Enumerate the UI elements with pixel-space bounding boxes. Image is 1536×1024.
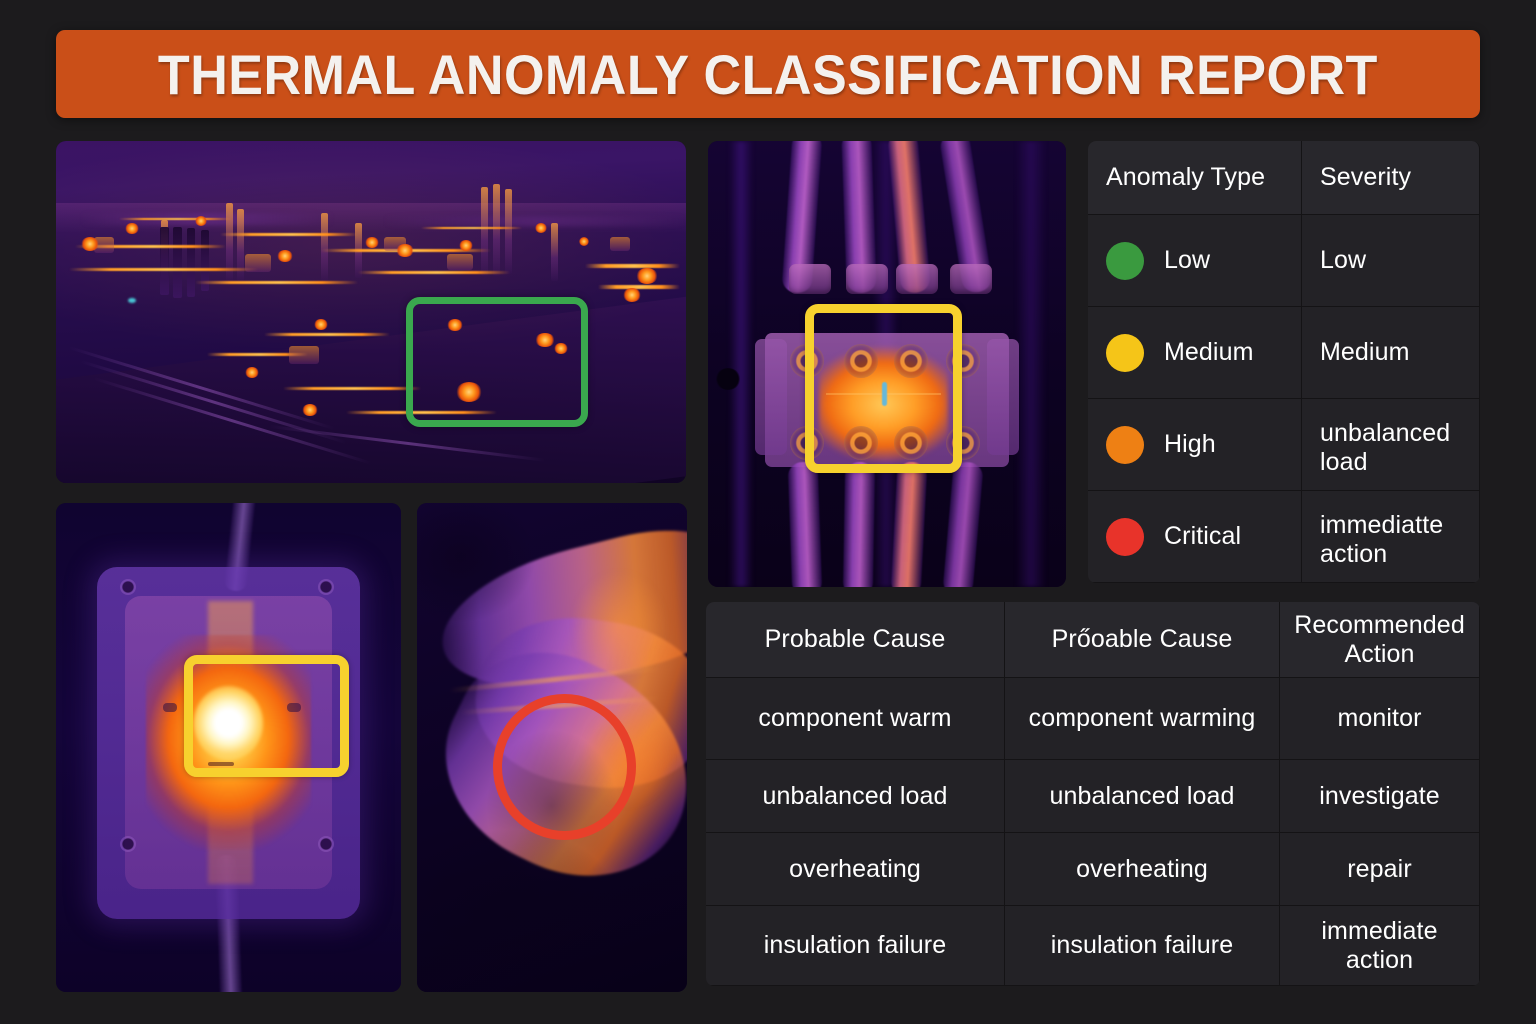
severity-table: Anomaly Type Severity Low Low Medium Med… <box>1088 141 1480 583</box>
thermal-image-terminal-block[interactable] <box>708 141 1066 587</box>
severity-value: immediatte action <box>1302 491 1480 583</box>
anomaly-type-value: Medium <box>1164 338 1254 367</box>
table-row[interactable]: Low <box>1088 215 1302 307</box>
table-row[interactable]: unbalanced load <box>1005 760 1280 833</box>
severity-header-anomaly-type: Anomaly Type <box>1088 141 1302 215</box>
page-title: THERMAL ANOMALY CLASSIFICATION REPORT <box>158 42 1378 107</box>
thermal-image-refinery-aerial[interactable] <box>56 141 686 483</box>
severity-value: Low <box>1302 215 1480 307</box>
table-row[interactable]: overheating <box>1005 833 1280 906</box>
annotation-circle-red[interactable] <box>493 694 636 841</box>
table-row[interactable]: High <box>1088 399 1302 491</box>
table-row[interactable]: monitor <box>1280 678 1480 760</box>
severity-value: Medium <box>1302 307 1480 399</box>
thermal-image-pipe-bend[interactable] <box>417 503 687 992</box>
anomaly-type-value: High <box>1164 430 1216 459</box>
table-row[interactable]: component warming <box>1005 678 1280 760</box>
table-row[interactable]: investigate <box>1280 760 1480 833</box>
annotation-box-green[interactable] <box>406 297 589 427</box>
table-row[interactable]: unbalanced load <box>706 760 1005 833</box>
table-row[interactable]: repair <box>1280 833 1480 906</box>
annotation-box-yellow-junction[interactable] <box>184 655 350 777</box>
status-dot-low <box>1106 242 1144 280</box>
anomaly-type-value: Critical <box>1164 522 1241 551</box>
status-dot-critical <box>1106 518 1144 556</box>
thermal-image-junction-box[interactable] <box>56 503 401 992</box>
status-dot-medium <box>1106 334 1144 372</box>
refinery-thermal-scene <box>56 141 686 483</box>
table-row[interactable]: insulation failure <box>706 906 1005 986</box>
table-row[interactable]: overheating <box>706 833 1005 906</box>
cause-action-table: Probable Cause Prőoable Cause Recommend… <box>706 602 1480 986</box>
cause-header-action: Recommended Action <box>1280 602 1480 678</box>
table-row[interactable]: component warm <box>706 678 1005 760</box>
status-dot-high <box>1106 426 1144 464</box>
severity-value: unbalanced load <box>1302 399 1480 491</box>
cause-header-a: Probable Cause <box>706 602 1005 678</box>
severity-header-severity: Severity <box>1302 141 1480 215</box>
cause-header-b: Prőoable Cause <box>1005 602 1280 678</box>
table-row[interactable]: Medium <box>1088 307 1302 399</box>
report-title-bar: THERMAL ANOMALY CLASSIFICATION REPORT <box>56 30 1480 118</box>
anomaly-type-value: Low <box>1164 246 1210 275</box>
table-row[interactable]: Critical <box>1088 491 1302 583</box>
table-row[interactable]: immediate action <box>1280 906 1480 986</box>
table-row[interactable]: insulation failure <box>1005 906 1280 986</box>
annotation-box-yellow-terminal[interactable] <box>805 304 963 473</box>
